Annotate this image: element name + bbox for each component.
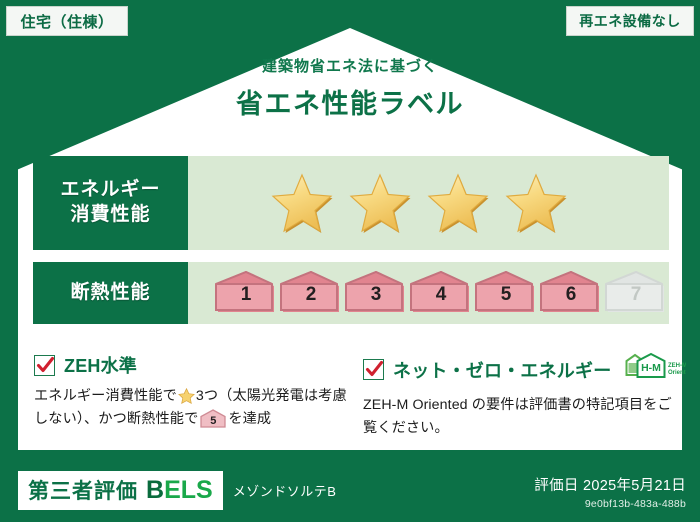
bels-letter-b: B [146, 476, 164, 504]
zeh-m-logo-caption2: Oriented [668, 370, 686, 376]
energy-performance-row: エネルギー 消費性能 [33, 156, 669, 250]
net-zero-energy-section: ネット・ゼロ・エネルギー H-M ZEH-M Oriented ZEH-M Or… [363, 352, 673, 440]
star-icon [349, 173, 411, 233]
star-icon [271, 173, 333, 233]
zeh-standard-checkbox[interactable] [34, 355, 55, 376]
zeh-standard-header: ZEH水準 [34, 352, 354, 378]
star-rating [188, 173, 567, 233]
footer-bels: 第三者評価 BELS メゾンドソルテB [18, 471, 336, 510]
zeh-standard-title: ZEH水準 [64, 352, 137, 378]
insulation-performance-value-cell: 1234567 [188, 262, 669, 324]
insulation-level-value: 7 [605, 284, 667, 306]
evaluation-date: 評価日 2025年5月21日 [534, 474, 686, 495]
energy-label-line2: 消費性能 [70, 203, 150, 228]
zeh-m-oriented-logo: H-M ZEH-M Oriented [624, 352, 686, 387]
zeh-desc-part1: エネルギー消費性能で [34, 388, 177, 404]
evaluation-date-label: 評価日 [534, 478, 578, 494]
tag-building-type: 住宅（住棟） [6, 6, 128, 36]
title-block: 建築物省エネ法に基づく 省エネ性能ラベル [0, 58, 700, 121]
zeh-standard-section: ZEH水準 エネルギー消費性能で3つ（太陽光発電は考慮しない）、かつ断熱性能で5… [34, 352, 354, 431]
insulation-label-line1: 断熱性能 [70, 281, 150, 306]
star-icon [505, 173, 567, 233]
star-icon [427, 173, 489, 233]
energy-performance-label-cell: エネルギー 消費性能 [33, 156, 188, 250]
bels-badge: 第三者評価 BELS [18, 471, 223, 510]
insulation-level-value: 5 [475, 284, 537, 306]
inline-star-icon [178, 388, 195, 404]
page-title: 省エネ性能ラベル [0, 82, 700, 121]
insulation-level-value: 4 [410, 284, 472, 306]
label-subtitle: 建築物省エネ法に基づく [0, 58, 700, 76]
footer-evaluation-info: 評価日 2025年5月21日 9e0bf13b-483a-488b [534, 474, 686, 510]
energy-performance-value-cell [188, 156, 669, 250]
third-party-evaluation-label: 第三者評価 [28, 475, 138, 505]
zeh-m-logo-caption1: ZEH-M [668, 363, 686, 369]
zeh-m-logo-letters: H-M [641, 362, 661, 374]
evaluation-date-value: 2025年5月21日 [583, 478, 686, 494]
insulation-level-badge: 5 [475, 271, 537, 315]
check-icon [36, 356, 55, 375]
insulation-level-badge: 7 [605, 271, 667, 315]
zeh-desc-part3: を達成 [228, 411, 271, 427]
insulation-performance-label-cell: 断熱性能 [33, 262, 188, 324]
bels-wordmark: BELS [146, 476, 213, 505]
building-name: メゾンドソルテB [233, 481, 337, 500]
net-zero-energy-title: ネット・ゼロ・エネルギー [393, 357, 611, 383]
insulation-level-badge: 1 [215, 271, 277, 315]
insulation-level-value: 1 [215, 284, 277, 306]
net-zero-energy-description: ZEH-M Oriented の要件は評価書の特記項目をご覧ください。 [363, 394, 673, 440]
zeh-standard-description: エネルギー消費性能で3つ（太陽光発電は考慮しない）、かつ断熱性能で5を達成 [34, 385, 354, 431]
insulation-level-badge: 3 [345, 271, 407, 315]
insulation-level-badge: 4 [410, 271, 472, 315]
evaluation-id: 9e0bf13b-483a-488b [534, 498, 686, 510]
inline-house-badge-value: 5 [200, 413, 226, 431]
tag-renewable-equipment: 再エネ設備なし [566, 6, 694, 36]
net-zero-energy-header: ネット・ゼロ・エネルギー H-M ZEH-M Oriented [363, 352, 673, 387]
bels-letters-els: ELS [164, 476, 213, 504]
energy-label-line1: エネルギー [60, 178, 160, 203]
energy-performance-label: 住宅（住棟） 再エネ設備なし 建築物省エネ法に基づく 省エネ性能ラベル エネルギ… [0, 0, 700, 522]
insulation-level-value: 3 [345, 284, 407, 306]
insulation-level-scale: 1234567 [188, 271, 667, 315]
check-icon [365, 360, 384, 379]
insulation-level-badge: 6 [540, 271, 602, 315]
inline-house-badge: 5 [200, 409, 226, 428]
insulation-level-value: 2 [280, 284, 342, 306]
insulation-level-badge: 2 [280, 271, 342, 315]
insulation-level-value: 6 [540, 284, 602, 306]
insulation-performance-row: 断熱性能 1234567 [33, 262, 669, 324]
net-zero-energy-checkbox[interactable] [363, 359, 384, 380]
